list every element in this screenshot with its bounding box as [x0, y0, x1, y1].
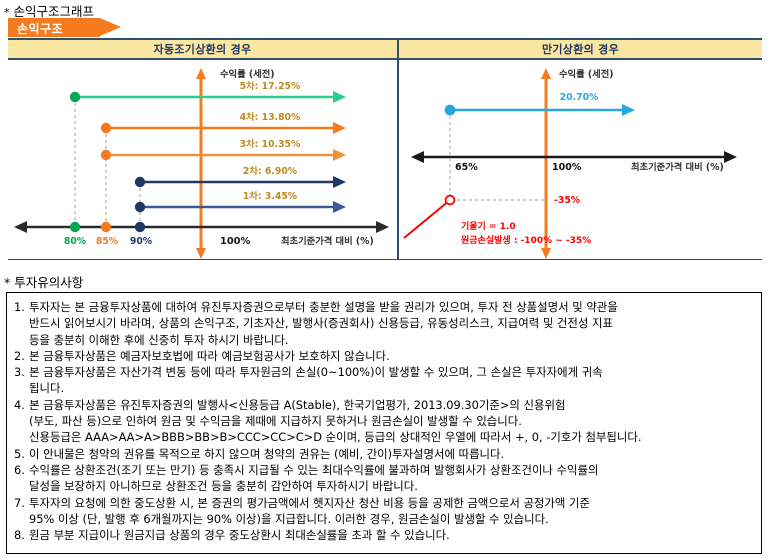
downside-value-label: -35%	[554, 195, 581, 206]
series-arrow-2-icon	[333, 176, 346, 188]
notice-item-2: 2. 본 금융투자상품은 예금자보호법에 따라 예금보험공사가 보호하지 않습니…	[14, 348, 754, 364]
series-marker-1	[135, 202, 145, 212]
investor-notice-title-text: 투자유의사항	[14, 275, 83, 290]
loss-slope-line	[404, 200, 450, 238]
notice-item-6: 6. 수익률은 상환조건(조기 또는 만기) 등 충족시 지급될 수 있는 최대…	[14, 462, 754, 495]
page-title-text: 손익구조그래프	[13, 4, 94, 19]
xtick-label-80: 80%	[64, 236, 87, 247]
xtick-marker-80	[70, 222, 80, 232]
xtick-label-100: 100%	[220, 236, 250, 247]
upside-barrier-marker	[445, 105, 456, 116]
notice-item-text: 투자자는 본 금융투자상품에 대하여 유진투자증권으로부터 충분한 설명을 받을…	[29, 299, 754, 348]
series-arrow-1-icon	[333, 201, 346, 213]
investor-notice-box: 1. 투자자는 본 금융투자상품에 대하여 유진투자증권으로부터 충분한 설명을…	[6, 292, 762, 554]
x-axis-arrow-left-icon	[14, 221, 27, 233]
notice-item-8: 8. 원금 부분 지급이나 원금지급 상품의 경우 중도상환시 최대손실률을 초…	[14, 527, 754, 543]
notice-item-7: 7. 투자자의 요청에 의한 중도상환 시, 본 증권의 평가금액에서 헷지자산…	[14, 495, 754, 528]
notice-item-number: 8.	[14, 527, 29, 543]
series-marker-2	[135, 177, 145, 187]
column-header-maturity-redemption: 만기상환의 경우	[399, 40, 762, 60]
x-axis-arrow-right-icon	[376, 221, 389, 233]
loss-range-annotation: 원금손실발생 : -100% ~ -35%	[461, 234, 591, 246]
notice-item-5: 5. 이 안내물은 청약의 권유를 목적으로 하지 않으며 청약의 권유는 (예…	[14, 446, 754, 462]
xtick-label-100: 100%	[552, 162, 582, 173]
notice-line: 본 금융투자상품은 유진투자증권의 발행사<신용등급 A(Stable), 한국…	[29, 397, 754, 413]
x-axis-title: 최초기준가격 대비 (%)	[631, 161, 724, 173]
investor-notice-title: * 투자유의사항	[4, 272, 83, 291]
series-label-5: 5차: 17.25%	[240, 80, 301, 92]
notice-item-number: 6.	[14, 462, 29, 478]
y-axis-title: 수익률 (세전)	[559, 68, 614, 80]
upside-value-label: 20.70%	[560, 92, 599, 103]
loss-threshold-marker	[446, 196, 455, 205]
notice-line: 원금 부분 지급이나 원금지급 상품의 경우 중도상환시 최대손실률을 초과 할…	[29, 527, 754, 543]
series-arrow-5-icon	[333, 91, 346, 103]
notice-item-number: 5.	[14, 446, 29, 462]
slope-annotation: 기울기 = 1.0	[461, 220, 516, 232]
x-axis-title: 최초기준가격 대비 (%)	[281, 235, 374, 247]
series-arrow-4-icon	[333, 122, 346, 134]
xtick-label-90: 90%	[130, 236, 153, 247]
notice-line: 본 금융투자상품은 자산가격 변동 등에 따라 투자원금의 손실(0~100%)…	[29, 364, 754, 380]
graph-table-header-row: 자동조기상환의 경우 만기상환의 경우	[8, 40, 762, 60]
notice-item-text: 투자자의 요청에 의한 중도상환 시, 본 증권의 평가금액에서 헷지자산 청산…	[29, 495, 754, 528]
notice-line: 이 안내물은 청약의 권유를 목적으로 하지 않으며 청약의 권유는 (예비, …	[29, 446, 754, 462]
notice-item-number: 2.	[14, 348, 29, 364]
y-axis-arrow-up-icon	[541, 68, 551, 79]
y-axis-arrow-down-icon	[196, 248, 206, 259]
notice-item-text: 원금 부분 지급이나 원금지급 상품의 경우 중도상환시 최대손실률을 초과 할…	[29, 527, 754, 543]
series-label-2: 2차: 6.90%	[243, 165, 298, 177]
early-redemption-chart-cell: 5차: 17.25% 4차: 13.80% 3차: 10.35% 2차	[8, 60, 399, 260]
series-label-1: 1차: 3.45%	[243, 190, 298, 202]
y-axis-title: 수익률 (세전)	[220, 68, 275, 80]
y-axis-arrow-up-icon	[196, 68, 206, 79]
series-arrow-3-icon	[333, 149, 346, 161]
graph-table-body-row: 5차: 17.25% 4차: 13.80% 3차: 10.35% 2차	[8, 60, 762, 260]
series-label-3: 3차: 10.35%	[240, 138, 301, 150]
x-axis-arrow-right-icon	[724, 151, 737, 163]
notice-item-text: 수익률은 상환조건(조기 또는 만기) 등 충족시 지급될 수 있는 최대수익률…	[29, 462, 754, 495]
y-axis-arrow-down-icon	[541, 248, 551, 259]
notice-line: 됩니다.	[29, 380, 754, 396]
series-marker-3	[101, 150, 111, 160]
notice-line: 달성을 보장하지 아니하므로 상환조건 등을 충분히 감안하여 투자하시기 바랍…	[29, 478, 754, 494]
notice-line: 반드시 읽어보시기 바라며, 상품의 손익구조, 기초자산, 발행사(증권회사)…	[29, 315, 754, 331]
banner-label: 손익구조	[17, 20, 63, 37]
notice-bullet-marker: *	[4, 275, 10, 290]
notice-line: 투자자는 본 금융투자상품에 대하여 유진투자증권으로부터 충분한 설명을 받을…	[29, 299, 754, 315]
banner-arrow-tip-icon	[100, 18, 121, 36]
series-marker-4	[101, 123, 111, 133]
notice-line: (부도, 파산 등)으로 인하여 원금 및 수익금을 제때에 지급하지 못하거나…	[29, 413, 754, 429]
product-payoff-page: * 손익구조그래프 손익구조 자동조기상환의 경우 만기상환의 경우	[0, 0, 770, 559]
notice-line: 투자자의 요청에 의한 중도상환 시, 본 증권의 평가금액에서 헷지자산 청산…	[29, 495, 754, 511]
notice-item-text: 본 금융투자상품은 예금자보호법에 따라 예금보험공사가 보호하지 않습니다.	[29, 348, 754, 364]
payoff-graph-table: 자동조기상환의 경우 만기상환의 경우	[8, 38, 762, 260]
upside-arrow-icon	[622, 104, 635, 116]
xtick-label-85: 85%	[96, 236, 119, 247]
xtick-marker-85	[101, 222, 111, 232]
notice-line: 등을 충분히 이해한 후에 신중히 투자 하시기 바랍니다.	[29, 332, 754, 348]
notice-item-text: 이 안내물은 청약의 권유를 목적으로 하지 않으며 청약의 권유는 (예비, …	[29, 446, 754, 462]
notice-item-3: 3. 본 금융투자상품은 자산가격 변동 등에 따라 투자원금의 손실(0~10…	[14, 364, 754, 397]
early-redemption-chart: 5차: 17.25% 4차: 13.80% 3차: 10.35% 2차	[8, 60, 399, 260]
notice-item-4: 4. 본 금융투자상품은 유진투자증권의 발행사<신용등급 A(Stable),…	[14, 397, 754, 446]
notice-line: 수익률은 상환조건(조기 또는 만기) 등 충족시 지급될 수 있는 최대수익률…	[29, 462, 754, 478]
notice-item-number: 7.	[14, 495, 29, 511]
notice-line: 본 금융투자상품은 예금자보호법에 따라 예금보험공사가 보호하지 않습니다.	[29, 348, 754, 364]
notice-item-number: 1.	[14, 299, 29, 315]
xtick-marker-90	[135, 222, 145, 232]
column-header-early-redemption: 자동조기상환의 경우	[8, 40, 399, 60]
notice-item-text: 본 금융투자상품은 유진투자증권의 발행사<신용등급 A(Stable), 한국…	[29, 397, 754, 446]
notice-item-number: 3.	[14, 364, 29, 380]
series-label-4: 4차: 13.80%	[240, 111, 301, 123]
notice-item-1: 1. 투자자는 본 금융투자상품에 대하여 유진투자증권으로부터 충분한 설명을…	[14, 299, 754, 348]
xtick-label-65: 65%	[455, 162, 478, 173]
maturity-redemption-chart: 20.70% -35% 기울기 = 1.0 원금손실발생 : -100% ~ -…	[399, 60, 758, 260]
series-marker-5	[70, 92, 80, 102]
payoff-structure-banner: 손익구조	[8, 18, 121, 37]
x-axis-arrow-left-icon	[411, 151, 424, 163]
notice-line: 95% 이상 (단, 발행 후 6개월까지는 90% 이상)을 지급합니다. 이…	[29, 511, 754, 527]
notice-line: 신용등급은 AAA>AA>A>BBB>BB>B>CCC>CC>C>D 순이며, …	[29, 429, 754, 445]
maturity-redemption-chart-cell: 20.70% -35% 기울기 = 1.0 원금손실발생 : -100% ~ -…	[399, 60, 762, 260]
notice-item-text: 본 금융투자상품은 자산가격 변동 등에 따라 투자원금의 손실(0~100%)…	[29, 364, 754, 397]
notice-item-number: 4.	[14, 397, 29, 413]
